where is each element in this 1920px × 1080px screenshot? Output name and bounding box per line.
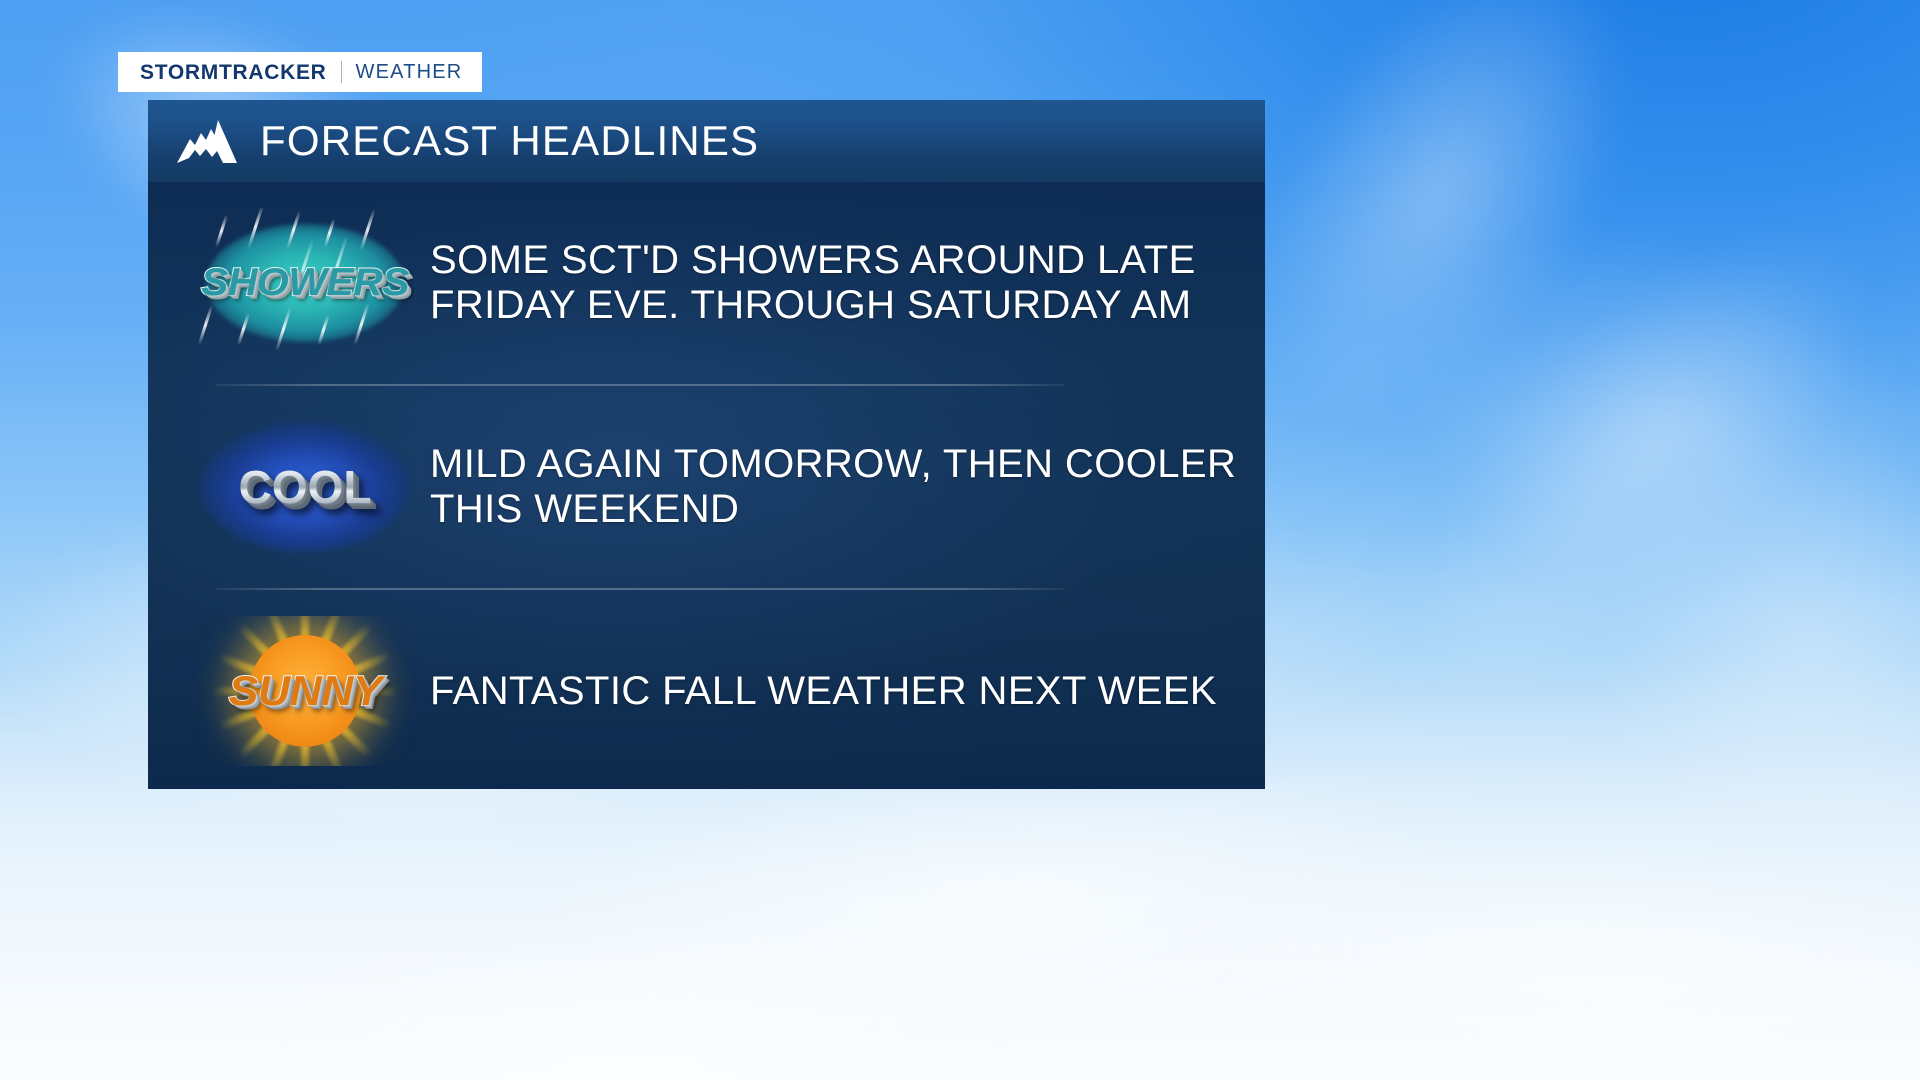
headline-text: FANTASTIC FALL WEATHER NEXT WEEK bbox=[430, 669, 1243, 714]
headline-row[interactable]: SHOWERS SOME SCT'D SHOWERS AROUND LATE F… bbox=[148, 182, 1265, 384]
mountain-icon bbox=[176, 118, 238, 164]
brand-secondary-label: WEATHER bbox=[356, 62, 463, 82]
showers-badge-icon: SHOWERS bbox=[196, 208, 414, 358]
brand-tab: STORMTRACKER WEATHER bbox=[118, 52, 482, 92]
brand-primary-label: STORMTRACKER bbox=[140, 62, 327, 83]
panel-header: FORECAST HEADLINES bbox=[148, 100, 1265, 182]
page-title: FORECAST HEADLINES bbox=[260, 120, 759, 162]
forecast-headlines-panel: FORECAST HEADLINES bbox=[148, 100, 1265, 793]
panel-body: SHOWERS SOME SCT'D SHOWERS AROUND LATE F… bbox=[148, 182, 1265, 789]
cool-badge-label: COOL bbox=[239, 460, 372, 514]
headline-badge: SUNNY bbox=[196, 616, 414, 766]
headline-badge: SHOWERS bbox=[196, 208, 414, 358]
headline-text: MILD AGAIN TOMORROW, THEN COOLER THIS WE… bbox=[430, 442, 1243, 532]
brand-divider bbox=[341, 61, 342, 83]
sunny-badge-label: SUNNY bbox=[228, 667, 381, 715]
sunny-badge-icon: SUNNY bbox=[196, 616, 414, 766]
cool-badge-icon: COOL bbox=[196, 412, 414, 562]
headline-badge: COOL bbox=[196, 412, 414, 562]
headline-row[interactable]: SUNNY FANTASTIC FALL WEATHER NEXT WEEK bbox=[148, 590, 1265, 789]
weather-graphic-stage: STORMTRACKER WEATHER FORECAST HEADLINES bbox=[0, 0, 1920, 1080]
headline-row[interactable]: COOL MILD AGAIN TOMORROW, THEN COOLER TH… bbox=[148, 386, 1265, 588]
showers-badge-label: SHOWERS bbox=[201, 261, 409, 305]
headline-text: SOME SCT'D SHOWERS AROUND LATE FRIDAY EV… bbox=[430, 238, 1243, 328]
